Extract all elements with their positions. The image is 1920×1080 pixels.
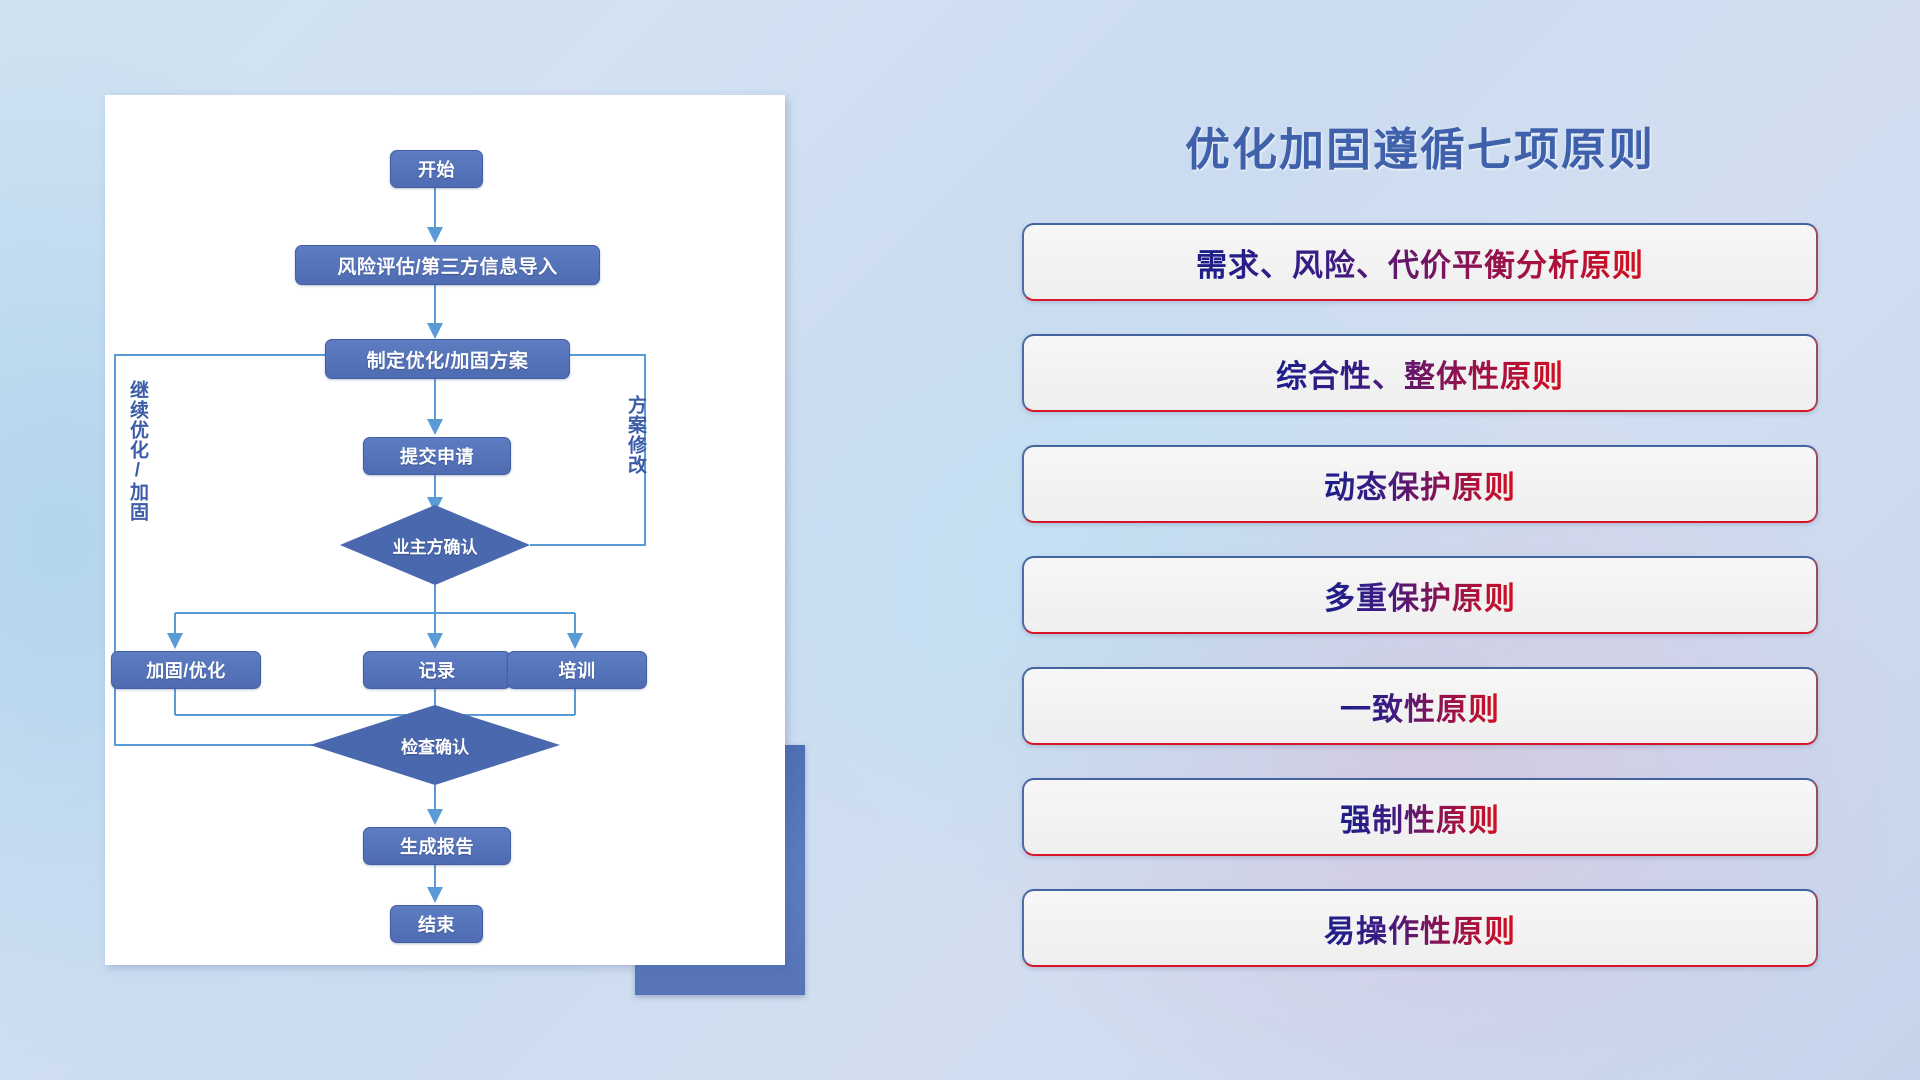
principle-card[interactable]: 动态保护原则 bbox=[1022, 445, 1818, 523]
node-training[interactable]: 培训 bbox=[507, 651, 647, 689]
node-generate-report-label: 生成报告 bbox=[400, 833, 474, 859]
node-reinforce-optimize-label: 加固/优化 bbox=[146, 657, 226, 683]
principles-list: 需求、风险、代价平衡分析原则 综合性、整体性原则 动态保护原则 多重保护原则 一… bbox=[1022, 223, 1818, 1000]
node-start-label: 开始 bbox=[418, 156, 455, 182]
node-training-label: 培训 bbox=[559, 657, 596, 683]
principle-label: 综合性、整体性原则 bbox=[1276, 351, 1564, 396]
principle-card[interactable]: 强制性原则 bbox=[1022, 778, 1818, 856]
principle-label: 强制性原则 bbox=[1340, 795, 1500, 840]
principle-card[interactable]: 综合性、整体性原则 bbox=[1022, 334, 1818, 412]
edge-label-continue-optimize: 继续优化/加固 bbox=[127, 380, 147, 522]
node-end[interactable]: 结束 bbox=[390, 905, 483, 943]
principle-label: 动态保护原则 bbox=[1324, 462, 1516, 507]
principle-card[interactable]: 一致性原则 bbox=[1022, 667, 1818, 745]
node-reinforce-optimize[interactable]: 加固/优化 bbox=[111, 651, 261, 689]
flowchart-panel: 继续优化/加固 方案修改 开始 风险评估/第三方信息导入 制定优化/加固方案 提… bbox=[105, 95, 785, 965]
principles-panel: 优化加固遵循七项原则 需求、风险、代价平衡分析原则 综合性、整体性原则 动态保护… bbox=[1020, 95, 1820, 995]
decision-owner-confirm bbox=[340, 505, 530, 585]
node-risk-assessment-label: 风险评估/第三方信息导入 bbox=[337, 252, 557, 279]
node-risk-assessment[interactable]: 风险评估/第三方信息导入 bbox=[295, 245, 600, 285]
principle-label: 易操作性原则 bbox=[1324, 906, 1516, 951]
principle-label: 需求、风险、代价平衡分析原则 bbox=[1196, 240, 1644, 285]
principle-label: 一致性原则 bbox=[1340, 684, 1500, 729]
edge-label-plan-revision: 方案修改 bbox=[625, 395, 645, 475]
principle-card[interactable]: 多重保护原则 bbox=[1022, 556, 1818, 634]
principle-card[interactable]: 需求、风险、代价平衡分析原则 bbox=[1022, 223, 1818, 301]
node-record[interactable]: 记录 bbox=[363, 651, 511, 689]
node-start[interactable]: 开始 bbox=[390, 150, 483, 188]
node-submit-application[interactable]: 提交申请 bbox=[363, 437, 511, 475]
node-end-label: 结束 bbox=[418, 911, 455, 937]
node-generate-report[interactable]: 生成报告 bbox=[363, 827, 511, 865]
node-make-plan[interactable]: 制定优化/加固方案 bbox=[325, 339, 570, 379]
principles-title: 优化加固遵循七项原则 bbox=[1020, 113, 1820, 178]
node-make-plan-label: 制定优化/加固方案 bbox=[367, 346, 529, 373]
principle-label: 多重保护原则 bbox=[1324, 573, 1516, 618]
decision-check-confirm bbox=[310, 705, 560, 785]
slide-canvas: 继续优化/加固 方案修改 开始 风险评估/第三方信息导入 制定优化/加固方案 提… bbox=[0, 0, 1920, 1080]
node-submit-application-label: 提交申请 bbox=[400, 443, 474, 469]
principle-card[interactable]: 易操作性原则 bbox=[1022, 889, 1818, 967]
node-record-label: 记录 bbox=[419, 657, 456, 683]
